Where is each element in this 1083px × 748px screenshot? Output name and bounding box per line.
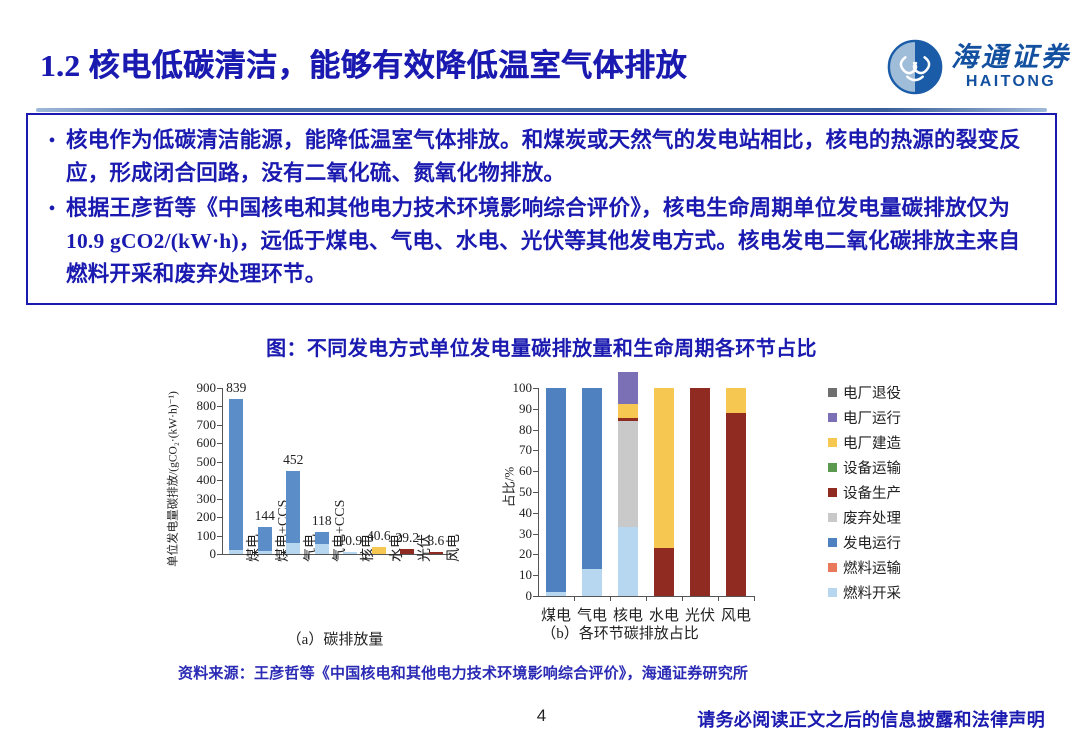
chart-b-tick-mark: [533, 430, 538, 431]
chart-a-bar-segment: [400, 549, 414, 554]
legend-item-label: 电厂退役: [843, 382, 901, 403]
chart-a-tick-mark: [217, 480, 222, 481]
chart-a-bar-segment: [429, 552, 443, 554]
chart-a-tick-label: 400: [180, 472, 216, 488]
chart-a-tick-mark: [217, 536, 222, 537]
legend-item: 发电运行: [828, 530, 901, 555]
legend-color-swatch: [828, 413, 837, 422]
chart-b-bar-segment: [618, 372, 638, 403]
content-box: • 核电作为低碳清洁能源，能降低温室气体排放。和煤炭或天然气的发电站相比，核电的…: [26, 113, 1057, 305]
chart-a-bar-segment: [258, 551, 272, 554]
chart-a-tick-mark: [217, 517, 222, 518]
legend-item-label: 电厂运行: [843, 407, 901, 428]
chart-b-bar: [618, 388, 638, 596]
chart-a-tick-mark: [217, 462, 222, 463]
legend-color-swatch: [828, 538, 837, 547]
legend-item: 电厂运行: [828, 405, 901, 430]
chart-b-tick-label: 50: [498, 484, 532, 500]
chart-b-tick-mark: [533, 471, 538, 472]
haitong-emblem-icon: [886, 38, 944, 96]
figure-title: 图：不同发电方式单位发电量碳排放量和生命周期各环节占比: [0, 332, 1083, 361]
chart-b-tick-label: 0: [498, 588, 532, 604]
chart-b-bar-segment: [582, 569, 602, 596]
chart-a-tick-label: 100: [180, 528, 216, 544]
legend-item: 设备运输: [828, 455, 901, 480]
list-item: • 根据王彦哲等《中国核电和其他电力技术环境影响综合评价》，核电生命周期单位发电…: [38, 192, 1041, 291]
chart-b-bar: [726, 388, 746, 596]
chart-b-tick-label: 60: [498, 463, 532, 479]
chart-b-y-axis: [538, 388, 539, 596]
chart-b-x-tick: [646, 596, 647, 601]
legend-item: 燃料运输: [828, 555, 901, 580]
chart-b-bar-segment: [618, 527, 638, 596]
bullet-text: 根据王彦哲等《中国核电和其他电力技术环境影响综合评价》，核电生命周期单位发电量碳…: [66, 192, 1041, 291]
chart-b-tick-label: 100: [498, 380, 532, 396]
chart-a-bar: [258, 388, 272, 554]
chart-b-tick-label: 40: [498, 505, 532, 521]
chart-a-tick-mark: [217, 406, 222, 407]
chart-a-bar: [229, 388, 243, 554]
chart-b-bar-segment: [690, 388, 710, 596]
slide: 1.2 核电低碳清洁，能够有效降低温室气体排放 海通证券 HAITONG •: [0, 0, 1083, 748]
chart-a-value-label: 8.6: [427, 533, 444, 549]
legend-color-swatch: [828, 588, 837, 597]
chart-b-bar: [546, 388, 566, 596]
chart-b-bar-segment: [582, 388, 602, 569]
chart-b-tick-label: 70: [498, 442, 532, 458]
chart-b-x-tick: [682, 596, 683, 601]
figure-charts: 单位发电量碳排放/(gCO₂·(kW·h)⁻¹) 010020030040050…: [160, 372, 950, 652]
chart-a-tick-mark: [217, 443, 222, 444]
chart-b-caption: （b）各环节碳排放占比: [470, 622, 770, 643]
chart-a-ylabel-text: 单位发电量碳排放/(gCO₂·(kW·h)⁻¹): [168, 391, 181, 567]
chart-a-tick-label: 600: [180, 435, 216, 451]
chart-a-bar-segment: [229, 550, 243, 554]
chart-a-bar-segment: [286, 543, 300, 554]
chart-a-bar-segment: [315, 544, 329, 554]
chart-b-x-tick: [610, 596, 611, 601]
chart-b-tick-label: 90: [498, 401, 532, 417]
legend-item-label: 设备运输: [843, 457, 901, 478]
chart-a-plot: 0100200300400500600700800900839煤电144煤电+C…: [222, 388, 450, 554]
logo-chinese-name: 海通证券: [951, 44, 1071, 71]
chart-a-tick-label: 900: [180, 380, 216, 396]
chart-b-bar-segment: [546, 592, 566, 596]
chart-b-bar-segment: [618, 418, 638, 421]
chart-a-bar-segment: [343, 552, 357, 554]
bullet-point-icon: •: [38, 124, 66, 158]
chart-a-value-label: 839: [226, 380, 246, 396]
chart-a-tick-mark: [217, 425, 222, 426]
chart-b-tick-mark: [533, 575, 538, 576]
chart-a-category-label: 风电: [443, 534, 463, 562]
chart-b-tick-mark: [533, 596, 538, 597]
page-title-number: 1.2: [40, 48, 80, 83]
slide-header: 1.2 核电低碳清洁，能够有效降低温室气体排放 海通证券 HAITONG: [0, 18, 1083, 88]
chart-b-tick-label: 30: [498, 526, 532, 542]
chart-b-tick-mark: [533, 388, 538, 389]
legend-item: 燃料开采: [828, 580, 901, 605]
chart-b-bar-segment: [618, 421, 638, 527]
chart-a-tick-mark: [217, 388, 222, 389]
bullet-list: • 核电作为低碳清洁能源，能降低温室气体排放。和煤炭或天然气的发电站相比，核电的…: [28, 115, 1055, 291]
chart-a-tick-label: 500: [180, 454, 216, 470]
bullet-text: 核电作为低碳清洁能源，能降低温室气体排放。和煤炭或天然气的发电站相比，核电的热源…: [66, 124, 1041, 190]
chart-a-bar: [286, 388, 300, 554]
chart-a-tick-label: 800: [180, 398, 216, 414]
legend-item: 电厂建造: [828, 430, 901, 455]
company-logo: 海通证券 HAITONG: [886, 38, 1071, 96]
chart-a-y-axis: [222, 388, 223, 554]
chart-b-x-tick: [754, 596, 755, 601]
chart-b-bar: [690, 388, 710, 596]
chart-b-tick-mark: [533, 534, 538, 535]
bullet-point-icon: •: [38, 192, 66, 226]
chart-b-tick-mark: [533, 513, 538, 514]
page-title: 1.2 核电低碳清洁，能够有效降低温室气体排放: [40, 40, 687, 85]
legend-color-swatch: [828, 488, 837, 497]
chart-a-bar: [429, 388, 443, 554]
legend-color-swatch: [828, 463, 837, 472]
header-divider: [36, 108, 1047, 112]
chart-b-bar-segment: [654, 388, 674, 548]
legend-color-swatch: [828, 438, 837, 447]
chart-b-tick-label: 20: [498, 546, 532, 562]
chart-b-plot: 0102030405060708090100煤电气电核电水电光伏风电: [538, 388, 754, 596]
chart-a-caption: （a）碳排放量: [160, 628, 510, 649]
chart-a-bar: [343, 388, 357, 554]
chart-b-tick-mark: [533, 492, 538, 493]
legend-item: 电厂退役: [828, 380, 901, 405]
chart-b-bar-segment: [726, 413, 746, 596]
footer-disclaimer: 请务必阅读正文之后的信息披露和法律声明: [697, 706, 1045, 732]
chart-b-legend: 电厂退役电厂运行电厂建造设备运输设备生产废弃处理发电运行燃料运输燃料开采: [828, 380, 901, 605]
page-title-text: 核电低碳清洁，能够有效降低温室气体排放: [89, 48, 688, 83]
legend-color-swatch: [828, 388, 837, 397]
legend-item-label: 燃料运输: [843, 557, 901, 578]
chart-b-tick-label: 80: [498, 422, 532, 438]
chart-a-bar-segment: [315, 532, 329, 544]
chart-b-bar-segment: [726, 388, 746, 413]
chart-b-tick-mark: [533, 409, 538, 410]
legend-item: 废弃处理: [828, 505, 901, 530]
list-item: • 核电作为低碳清洁能源，能降低温室气体排放。和煤炭或天然气的发电站相比，核电的…: [38, 124, 1041, 190]
legend-color-swatch: [828, 513, 837, 522]
chart-a-tick-label: 700: [180, 417, 216, 433]
chart-a-tick-label: 300: [180, 491, 216, 507]
chart-b-bar: [582, 388, 602, 596]
chart-a-value-label: 452: [283, 452, 303, 468]
chart-a-bar-segment: [286, 471, 300, 543]
legend-item-label: 设备生产: [843, 482, 901, 503]
chart-a-tick-mark: [217, 554, 222, 555]
chart-b-bar-segment: [546, 388, 566, 592]
chart-b-x-tick: [574, 596, 575, 601]
chart-a-bar-segment: [229, 399, 243, 550]
chart-b-tick-label: 10: [498, 567, 532, 583]
chart-b-bar-segment: [654, 548, 674, 596]
chart-b-bar-segment: [618, 404, 638, 419]
chart-a-tick-mark: [217, 499, 222, 500]
chart-a-bar-segment: [372, 547, 386, 554]
legend-item-label: 废弃处理: [843, 507, 901, 528]
chart-b-tick-mark: [533, 450, 538, 451]
legend-item-label: 发电运行: [843, 532, 901, 553]
figure-source: 资料来源：王彦哲等《中国核电和其他电力技术环境影响综合评价》，海通证券研究所: [178, 662, 748, 683]
logo-text: 海通证券 HAITONG: [951, 44, 1071, 90]
legend-item-label: 电厂建造: [843, 432, 901, 453]
chart-b-tick-mark: [533, 554, 538, 555]
legend-item-label: 燃料开采: [843, 582, 901, 603]
chart-a-tick-label: 0: [180, 546, 216, 562]
legend-color-swatch: [828, 563, 837, 572]
logo-english-name: HAITONG: [966, 74, 1056, 90]
legend-item: 设备生产: [828, 480, 901, 505]
chart-a-bar-segment: [258, 527, 272, 550]
chart-b-bar: [654, 388, 674, 596]
chart-a-tick-label: 200: [180, 509, 216, 525]
chart-b-x-tick: [718, 596, 719, 601]
